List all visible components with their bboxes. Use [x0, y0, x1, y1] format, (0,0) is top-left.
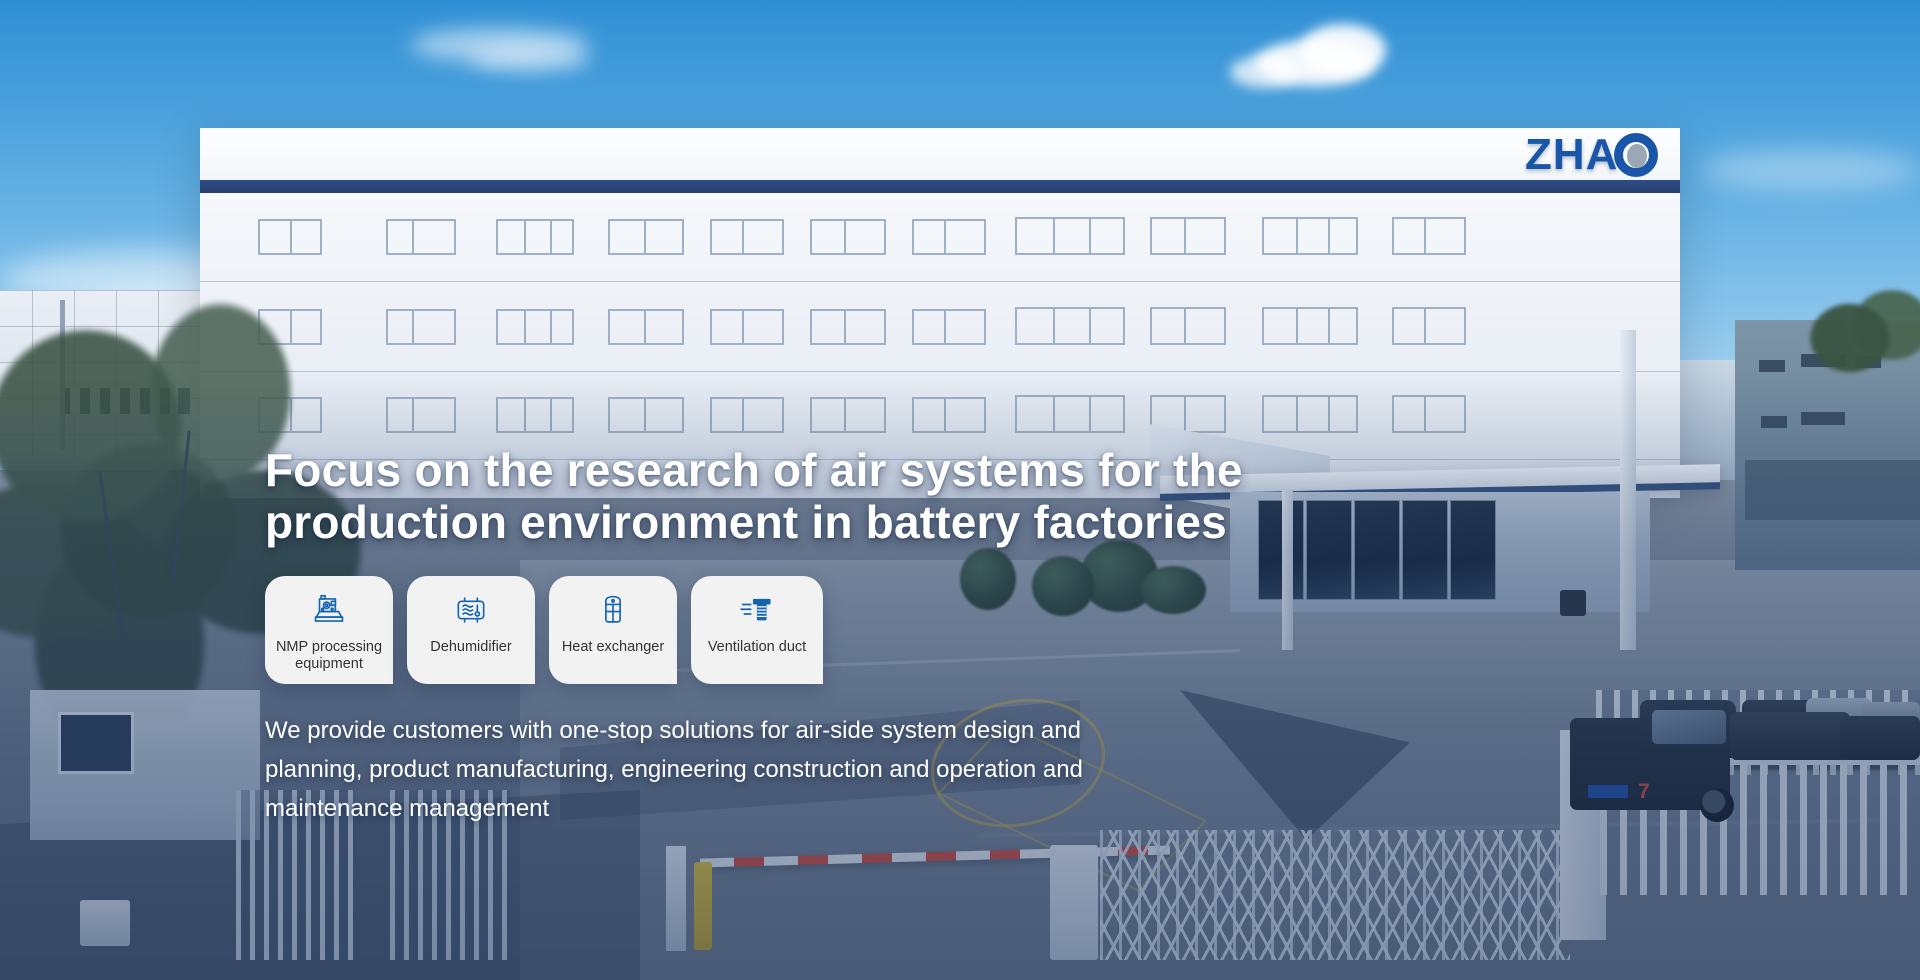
- nmp-processing-equipment-icon: [310, 590, 348, 630]
- dehumidifier-icon: [452, 590, 490, 630]
- truck-wheel: [1700, 788, 1734, 822]
- ventilation-duct-icon: [738, 590, 776, 630]
- cloud: [470, 46, 590, 72]
- bollard: [694, 862, 712, 950]
- ac-unit: [80, 900, 130, 946]
- retractable-gate: [1100, 830, 1570, 960]
- feature-card-label: Dehumidifier: [430, 639, 511, 656]
- factory-building: [200, 128, 1680, 498]
- heat-exchanger-icon: [594, 590, 632, 630]
- parked-car: [1730, 712, 1850, 760]
- feature-card-heat-exchanger[interactable]: Heat exchanger: [549, 576, 677, 684]
- brand-logo-text: ZHA: [1525, 130, 1618, 180]
- building-parapet: [200, 128, 1680, 180]
- truck-license-plate: [1588, 785, 1628, 798]
- cloud: [1700, 150, 1920, 190]
- parked-car: [1840, 716, 1920, 760]
- brand-logo-o-mark: [1614, 133, 1658, 177]
- feature-card-label: Ventilation duct: [708, 639, 806, 656]
- feature-card-label: Heat exchanger: [562, 639, 664, 656]
- gate-control-box: [1050, 845, 1098, 960]
- truck-decal: 7: [1638, 780, 1650, 804]
- building-column: [1620, 330, 1636, 650]
- feature-card-nmp-processing-equipment[interactable]: NMP processing equipment: [265, 576, 393, 684]
- feature-card-list: NMP processing equipment Dehumidifier: [265, 576, 1565, 684]
- barrier-post: [666, 846, 686, 951]
- building-stripe: [200, 180, 1680, 193]
- feature-card-dehumidifier[interactable]: Dehumidifier: [407, 576, 535, 684]
- hero-banner: ZHA 7 Focus on the research of air sys: [0, 0, 1920, 980]
- window: [58, 712, 134, 774]
- cloud: [1300, 24, 1386, 76]
- page-title: Focus on the research of air systems for…: [265, 445, 1325, 548]
- hero-description: We provide customers with one-stop solut…: [265, 712, 1095, 829]
- feature-card-label: NMP processing equipment: [273, 639, 385, 674]
- tree: [1790, 286, 1920, 416]
- hero-content: Focus on the research of air systems for…: [265, 445, 1565, 828]
- brand-logo: ZHA: [1525, 130, 1658, 180]
- cloud: [1230, 56, 1300, 88]
- pickup-truck-window: [1652, 710, 1726, 744]
- feature-card-ventilation-duct[interactable]: Ventilation duct: [691, 576, 823, 684]
